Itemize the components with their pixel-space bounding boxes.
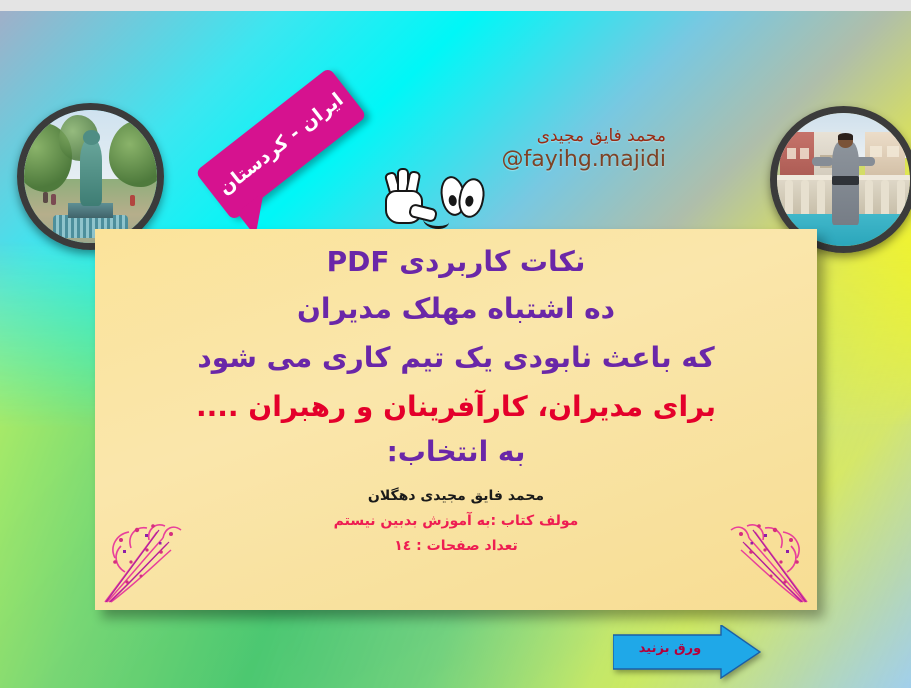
man-hair bbox=[838, 133, 854, 140]
person-silhouette bbox=[130, 195, 135, 206]
window bbox=[870, 146, 882, 158]
smile-icon bbox=[423, 212, 449, 229]
card-selected-by-label: به انتخاب: bbox=[95, 435, 817, 468]
firework-burst-icon bbox=[101, 518, 197, 604]
clipart-group bbox=[383, 168, 483, 230]
card-title-line-3: که باعث نابودی یک تیم کاری می شود bbox=[95, 341, 817, 374]
card-title-line-2: ده اشتباه مهلک مدیران bbox=[95, 292, 817, 325]
content-card: نکات کاربردی PDF ده اشتباه مهلک مدیران ک… bbox=[95, 229, 817, 610]
window bbox=[787, 148, 796, 159]
baluster bbox=[865, 180, 873, 215]
tree-icon bbox=[109, 121, 164, 188]
author-name: محمد فایق مجیدی bbox=[502, 126, 666, 147]
baluster bbox=[897, 180, 905, 215]
pupil bbox=[448, 195, 458, 207]
baluster bbox=[881, 180, 889, 215]
card-author-name: محمد فایق مجیدی دهگلان bbox=[95, 488, 817, 504]
card-audience-line: برای مدیران، کارآفرینان و رهبران .... bbox=[95, 390, 817, 423]
person-silhouette bbox=[51, 194, 56, 205]
card-title-line-1: نکات کاربردی PDF bbox=[95, 245, 817, 278]
next-page-label: ورق بزنید bbox=[621, 641, 719, 656]
pupil bbox=[464, 195, 474, 207]
baluster bbox=[785, 180, 793, 215]
firework-burst-icon bbox=[715, 518, 811, 604]
next-page-button[interactable]: ورق بزنید bbox=[613, 625, 761, 679]
statue-head bbox=[83, 130, 100, 145]
baluster bbox=[817, 180, 825, 215]
slide-canvas: ایران - کردستان محمد فایق مجیدی @fayihg.… bbox=[0, 0, 911, 688]
card-page-count: تعداد صفحات : ١٤ bbox=[95, 538, 817, 554]
author-id: @fayihg.majidi bbox=[502, 147, 666, 174]
top-strip bbox=[0, 0, 911, 11]
arm bbox=[812, 157, 833, 166]
window bbox=[800, 148, 809, 159]
statue-figure bbox=[80, 137, 103, 206]
man-kurdish-dress-photo-content bbox=[777, 113, 910, 246]
window bbox=[887, 146, 899, 158]
author-handle: محمد فایق مجیدی @fayihg.majidi bbox=[502, 126, 666, 174]
baluster bbox=[801, 180, 809, 215]
statue-park-photo bbox=[17, 103, 164, 250]
man-belt bbox=[832, 176, 860, 185]
card-author-book: مولف کتاب :به آموزش بدبین نیستم bbox=[95, 513, 817, 529]
person-silhouette bbox=[43, 192, 48, 203]
statue-park-photo-content bbox=[24, 110, 157, 243]
